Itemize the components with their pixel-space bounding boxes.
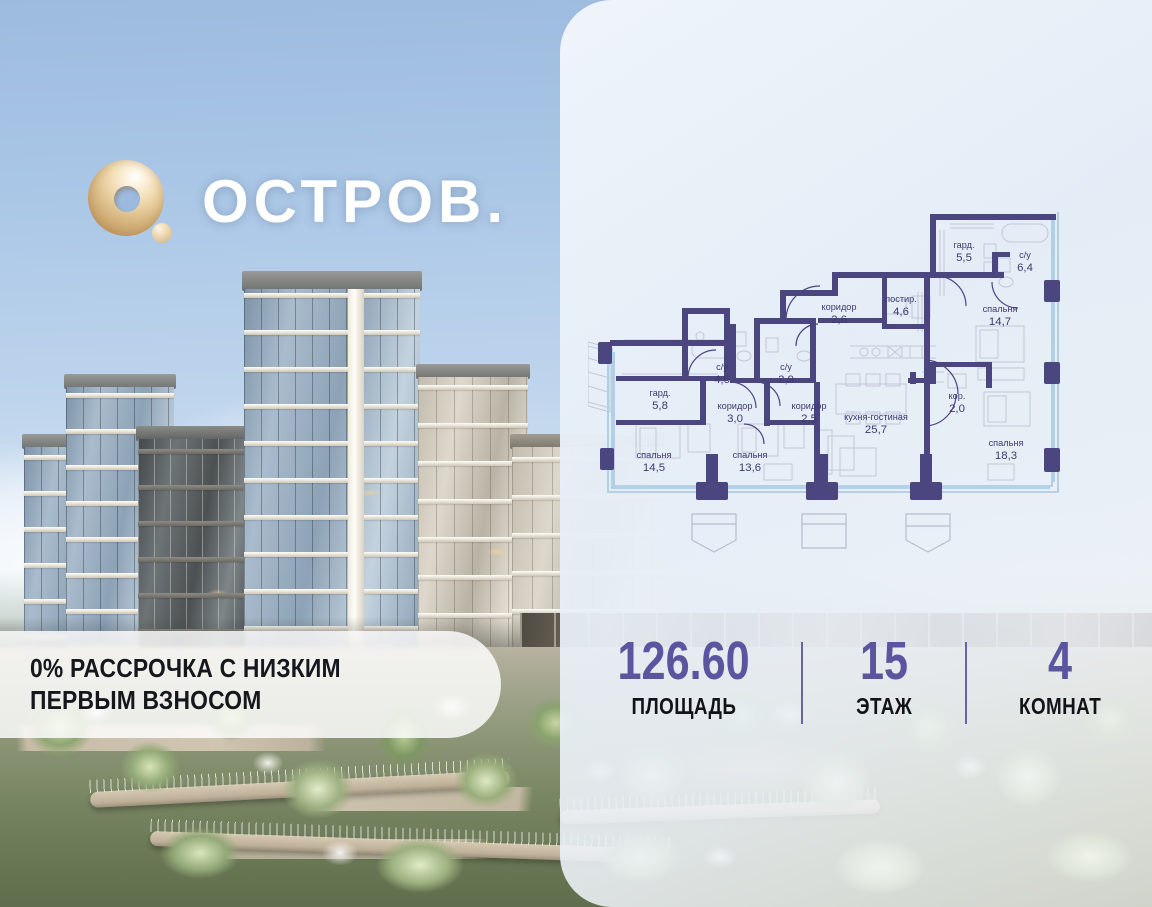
svg-text:14,7: 14,7 bbox=[989, 316, 1011, 328]
svg-text:спальня: спальня bbox=[637, 450, 672, 460]
stat-rooms-value: 4 bbox=[1048, 636, 1072, 687]
svg-text:2,5: 2,5 bbox=[801, 413, 817, 425]
logo-dot-icon bbox=[152, 223, 172, 243]
promo-text: 0% РАССРОЧКА С НИЗКИМ ПЕРВЫМ ВЗНОСОМ bbox=[30, 653, 341, 716]
svg-text:6,4: 6,4 bbox=[1017, 262, 1033, 274]
room-label-su-45: с/у4,5 bbox=[714, 362, 730, 386]
svg-text:гард.: гард. bbox=[953, 240, 974, 250]
svg-text:3,0: 3,0 bbox=[727, 413, 743, 425]
svg-text:14,5: 14,5 bbox=[643, 462, 665, 474]
room-label-kor-20: кор.2,0 bbox=[949, 391, 966, 415]
floorplan: гард.5,8 спальня14,5 коридор3,0 с/у4,5 с… bbox=[588, 196, 1128, 556]
svg-text:спальня: спальня bbox=[989, 438, 1024, 448]
room-label-gard-58: гард.5,8 bbox=[649, 388, 670, 412]
svg-text:5,8: 5,8 bbox=[652, 400, 668, 412]
floorplan-outer-envelope bbox=[608, 212, 1058, 492]
brand-name: ОСТРОВ. bbox=[202, 172, 508, 232]
promo-banner: 0% РАССРОЧКА С НИЗКИМ ПЕРВЫМ ВЗНОСОМ bbox=[0, 631, 501, 738]
stat-area: 126.60 ПЛОЩАДЬ bbox=[600, 636, 768, 718]
room-label-su-29: с/у2,9 bbox=[778, 362, 794, 386]
svg-text:13,6: 13,6 bbox=[739, 462, 761, 474]
svg-text:спальня: спальня bbox=[733, 450, 768, 460]
svg-text:18,3: 18,3 bbox=[995, 450, 1017, 462]
balcony-outline-icons bbox=[692, 514, 950, 552]
promo-line-1: 0% РАССРОЧКА С НИЗКИМ bbox=[30, 653, 341, 685]
room-label-su-64: с/у6,4 bbox=[1017, 250, 1033, 274]
svg-text:с/у: с/у bbox=[1019, 250, 1031, 260]
room-label-spalnya-136: спальня13,6 bbox=[733, 450, 768, 474]
svg-text:4,5: 4,5 bbox=[714, 374, 730, 386]
stat-rooms: 4 КОМНАТ bbox=[1000, 636, 1120, 718]
svg-text:кухня-гостиная: кухня-гостиная bbox=[844, 412, 908, 422]
stat-floor-value: 15 bbox=[860, 636, 908, 687]
stat-area-label: ПЛОЩАДЬ bbox=[632, 695, 737, 718]
room-label-koridor-30: коридор3,0 bbox=[717, 401, 752, 425]
stat-divider-1 bbox=[801, 642, 803, 724]
svg-text:спальня: спальня bbox=[983, 304, 1018, 314]
svg-text:коридор: коридор bbox=[821, 302, 856, 312]
apartment-stats: 126.60 ПЛОЩАДЬ 15 ЭТАЖ 4 КОМНАТ bbox=[600, 636, 1120, 748]
svg-text:коридор: коридор bbox=[791, 401, 826, 411]
svg-text:2,9: 2,9 bbox=[778, 374, 794, 386]
stat-rooms-label: КОМНАТ bbox=[1019, 695, 1101, 718]
svg-text:с/у: с/у bbox=[716, 362, 728, 372]
room-label-gard-55: гард.5,5 bbox=[953, 240, 974, 264]
svg-text:постир.: постир. bbox=[885, 294, 917, 304]
info-panel: гард.5,8 спальня14,5 коридор3,0 с/у4,5 с… bbox=[560, 0, 1152, 907]
svg-text:25,7: 25,7 bbox=[865, 424, 887, 436]
stat-floor: 15 ЭТАЖ bbox=[836, 636, 932, 718]
stat-divider-2 bbox=[965, 642, 967, 724]
svg-text:5,5: 5,5 bbox=[956, 252, 972, 264]
room-label-spalnya-147: спальня14,7 bbox=[983, 304, 1018, 328]
svg-text:гард.: гард. bbox=[649, 388, 670, 398]
stat-floor-label: ЭТАЖ bbox=[856, 695, 912, 718]
brand-logo: ОСТРОВ. bbox=[88, 160, 508, 244]
room-label-spalnya-183: спальня18,3 bbox=[989, 438, 1024, 462]
svg-text:4,6: 4,6 bbox=[893, 306, 909, 318]
svg-text:коридор: коридор bbox=[717, 401, 752, 411]
golden-ring-logo-icon bbox=[88, 160, 172, 244]
svg-text:с/у: с/у bbox=[780, 362, 792, 372]
stat-area-value: 126.60 bbox=[618, 636, 750, 687]
svg-text:2,0: 2,0 bbox=[949, 403, 965, 415]
svg-text:кор.: кор. bbox=[949, 391, 966, 401]
svg-text:2,6: 2,6 bbox=[831, 314, 847, 326]
floorplan-svg: гард.5,8 спальня14,5 коридор3,0 с/у4,5 с… bbox=[588, 196, 1128, 556]
room-label-spalnya-145: спальня14,5 bbox=[637, 450, 672, 474]
promo-line-2: ПЕРВЫМ ВЗНОСОМ bbox=[30, 685, 341, 717]
